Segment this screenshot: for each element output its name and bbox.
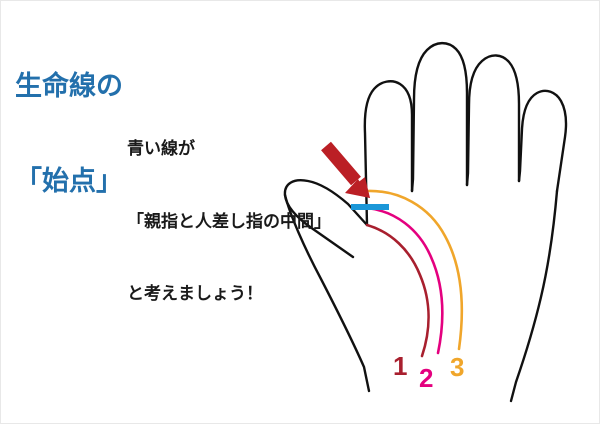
page-title: 生命線の 「始点」 — [15, 7, 123, 262]
line-label-2: 2 — [419, 365, 433, 391]
caption-line-3: と考えましょう！ — [127, 282, 331, 306]
line-label-3: 3 — [450, 354, 464, 380]
line-label-1: 1 — [393, 353, 407, 379]
life-line-1 — [367, 225, 429, 356]
page-title-line-1: 生命線の — [15, 71, 123, 103]
caption-text: 青い線が 「親指と人差し指の中間」 と考えましょう！ — [127, 89, 331, 354]
pinky-finger-outline — [519, 91, 566, 191]
life-line-3 — [367, 191, 462, 349]
index-finger-outline — [365, 81, 412, 225]
slide-canvas: 生命線の 「始点」 青い線が 「親指と人差し指の中間」 と考えましょう！ 1 2… — [0, 0, 600, 424]
caption-line-2: 「親指と人差し指の中間」 — [127, 210, 331, 234]
page-title-line-2: 「始点」 — [15, 166, 123, 198]
ring-finger-outline — [467, 55, 519, 185]
palm-right-edge — [511, 191, 557, 401]
pointer-arrow — [326, 146, 370, 198]
middle-finger-outline — [412, 43, 467, 191]
caption-line-1: 青い線が — [127, 137, 331, 161]
